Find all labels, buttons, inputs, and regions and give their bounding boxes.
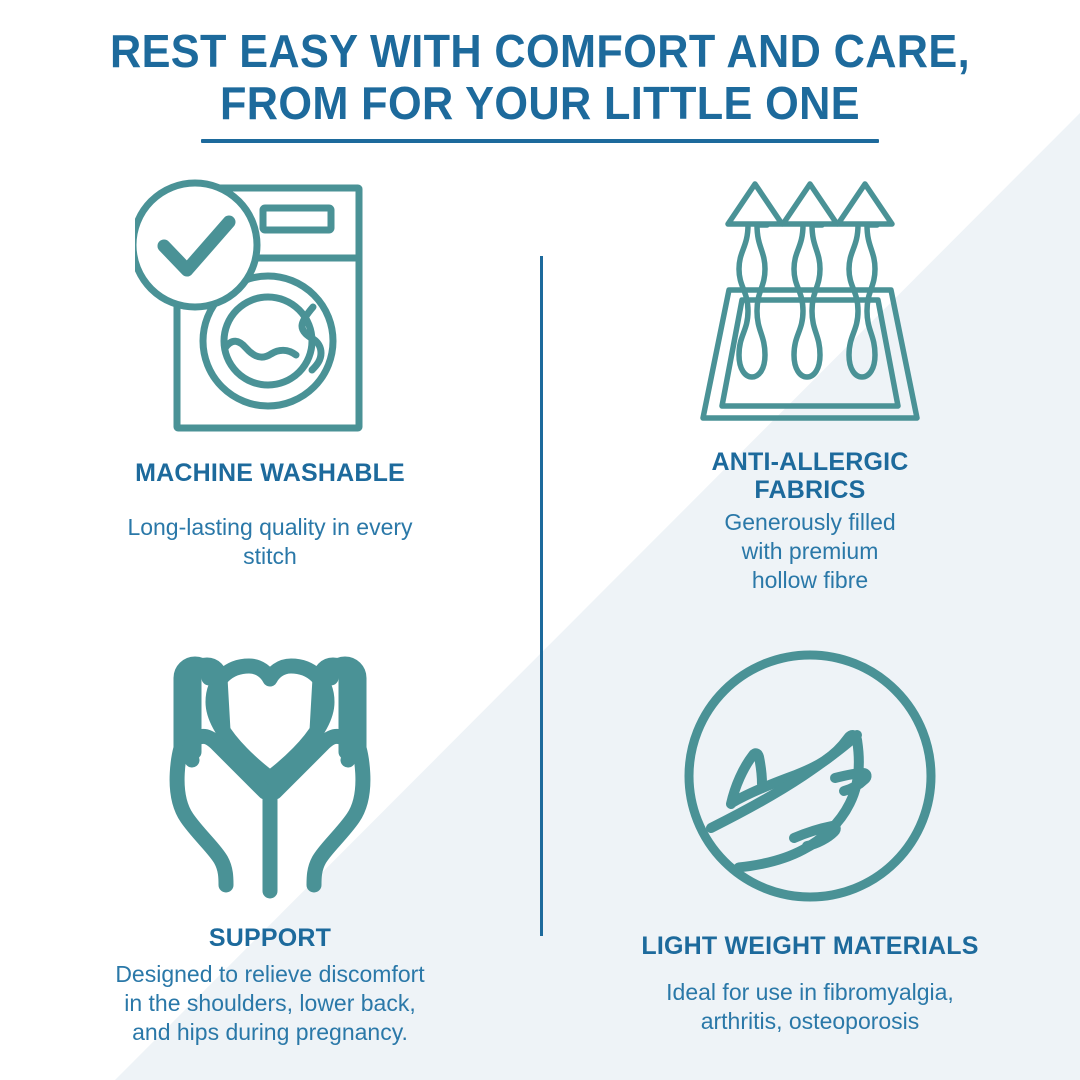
headline-underline [201, 139, 879, 143]
feature-title: ANTI-ALLERGIC FABRICS [711, 448, 908, 504]
feature-title: LIGHT WEIGHT MATERIALS [641, 932, 978, 960]
feature-machine-washable: MACHINE WASHABLE Long-lasting quality in… [0, 160, 540, 620]
washing-machine-check-icon [135, 166, 405, 441]
feature-description: Long-lasting quality in every stitch [127, 513, 412, 571]
feature-support: SUPPORT Designed to relieve discomfort i… [0, 620, 540, 1080]
icon-wrap-light-weight [680, 646, 940, 906]
feature-description: Designed to relieve discomfort in the sh… [115, 960, 424, 1047]
headline-block: REST EASY WITH COMFORT AND CARE, FROM FO… [0, 26, 1080, 143]
feature-description: Generously filled with premium hollow fi… [724, 508, 895, 595]
headline-line-2: FROM FOR YOUR LITTLE ONE [32, 78, 1047, 130]
icon-wrap-machine-washable [135, 166, 405, 441]
features-grid: MACHINE WASHABLE Long-lasting quality in… [0, 160, 1080, 1080]
feature-description: Ideal for use in fibromyalgia, arthritis… [666, 978, 954, 1036]
infographic-page: REST EASY WITH COMFORT AND CARE, FROM FO… [0, 0, 1080, 1080]
icon-wrap-anti-allergic [685, 174, 935, 436]
hands-holding-heart-icon [139, 640, 401, 902]
icon-wrap-support [139, 640, 401, 902]
feature-light-weight-materials: LIGHT WEIGHT MATERIALS Ideal for use in … [540, 620, 1080, 1080]
feather-in-circle-icon [680, 646, 940, 906]
feature-anti-allergic-fabrics: ANTI-ALLERGIC FABRICS Generously filled … [540, 160, 1080, 620]
feature-title: MACHINE WASHABLE [135, 459, 405, 487]
breathable-fabric-arrows-icon [685, 174, 935, 436]
feature-title: SUPPORT [209, 924, 331, 952]
headline-line-1: REST EASY WITH COMFORT AND CARE, [32, 26, 1047, 78]
page-title: REST EASY WITH COMFORT AND CARE, FROM FO… [32, 26, 1047, 129]
